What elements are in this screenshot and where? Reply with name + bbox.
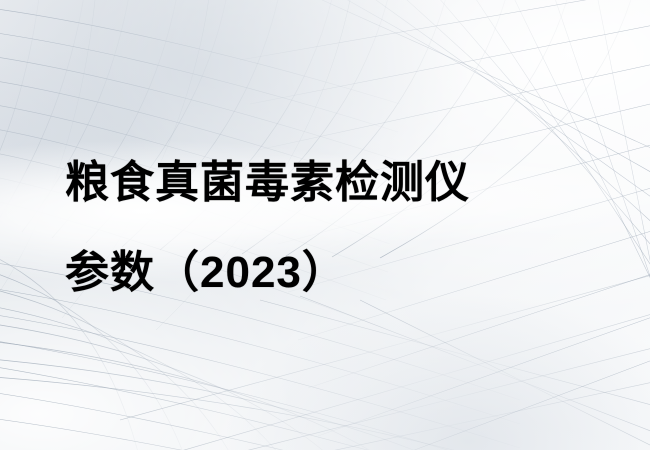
title-line-2: 参数（2023） [65, 228, 605, 318]
banner: 粮食真菌毒素检测仪 参数（2023） [0, 0, 650, 450]
page-title: 粮食真菌毒素检测仪 参数（2023） [65, 138, 605, 318]
title-line-1: 粮食真菌毒素检测仪 [65, 138, 605, 228]
